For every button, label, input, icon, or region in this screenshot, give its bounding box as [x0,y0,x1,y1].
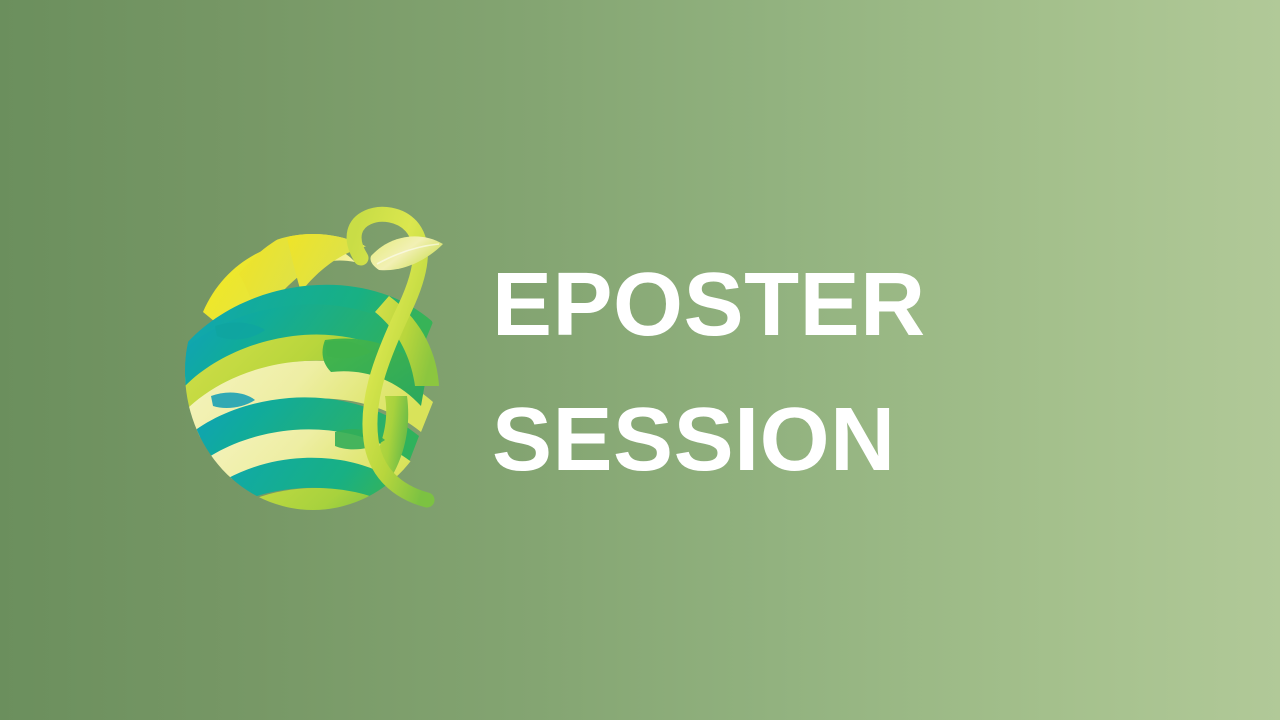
wordmark-line-session: SESSION [492,373,1132,508]
wordmark: EPOSTER SESSION [492,238,1132,508]
spiral-globe-swan-logo [175,200,465,520]
slide-canvas: EPOSTER SESSION [0,0,1280,720]
wordmark-line-eposter: EPOSTER [492,238,1132,373]
leaf-blade [370,236,443,270]
ribbon-band-lime-2 [215,488,411,540]
